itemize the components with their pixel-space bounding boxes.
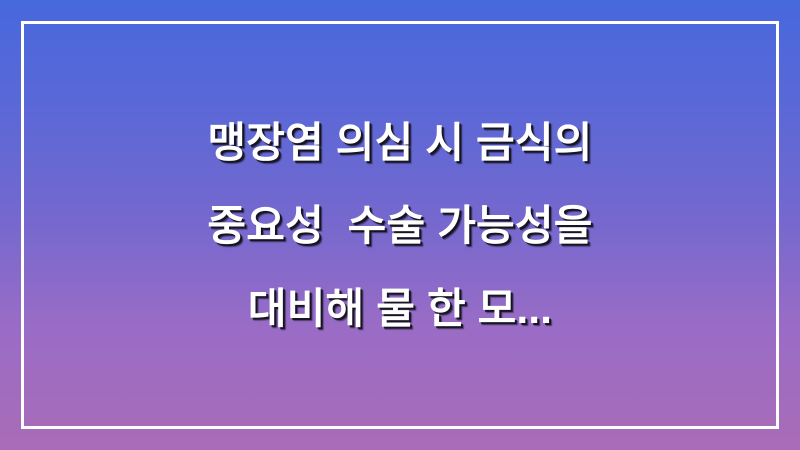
headline-line-1: 맹장염 의심 시 금식의 [46, 101, 754, 184]
headline-line-2: 중요성 수술 가능성을 [46, 184, 754, 267]
thumbnail-card: 맹장염 의심 시 금식의 중요성 수술 가능성을 대비해 물 한 모... [0, 0, 800, 450]
headline-text-block: 맹장염 의심 시 금식의 중요성 수술 가능성을 대비해 물 한 모... [0, 0, 800, 450]
headline-line-3: 대비해 물 한 모... [46, 267, 754, 350]
